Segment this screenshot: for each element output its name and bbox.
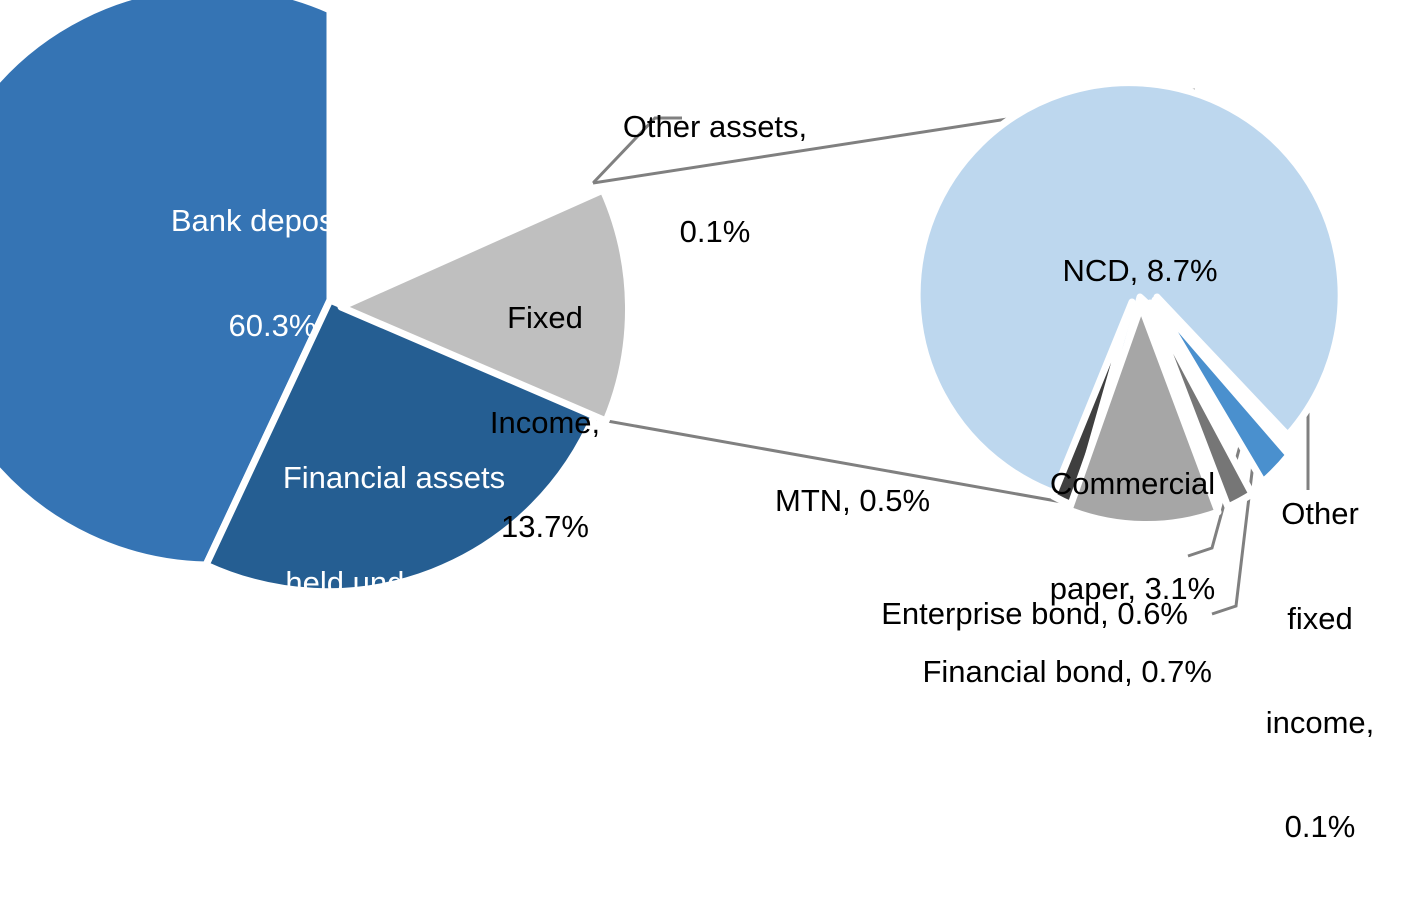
label-ncd-line1: NCD, 8.7% xyxy=(1040,254,1240,289)
label-repo: Financial assets held under repo agreeme… xyxy=(254,392,534,878)
label-other-fixed-income-line1: Other xyxy=(1258,497,1382,532)
label-bank-deposits: Bank deposits, 60.3% xyxy=(140,135,405,413)
label-repo-line4: 25.9% xyxy=(254,774,534,809)
label-bank-deposits-line2: 60.3% xyxy=(140,309,405,344)
label-other-fixed-income-line3: income, xyxy=(1258,706,1382,741)
label-ncd: NCD, 8.7% xyxy=(1040,185,1240,359)
label-repo-line1: Financial assets xyxy=(254,461,534,496)
label-mtn-line1: MTN, 0.5% xyxy=(775,484,965,519)
label-other-assets-line1: Other assets, xyxy=(600,110,830,145)
label-other-assets: Other assets, 0.1% xyxy=(600,41,830,319)
label-financial-bond: Financial bond, 0.7% xyxy=(888,586,1212,760)
label-other-fixed-income-line2: fixed xyxy=(1258,602,1382,637)
label-other-fixed-income-line4: 0.1% xyxy=(1258,810,1382,845)
label-repo-line2: held under repo xyxy=(254,566,534,601)
label-bank-deposits-line1: Bank deposits, xyxy=(140,204,405,239)
pie-chart-figure: Bank deposits, 60.3% Fixed Income, 13.7%… xyxy=(0,0,1404,644)
label-commercial-paper-line1: Commercial xyxy=(1030,467,1235,502)
label-fixed-income-line1: Fixed xyxy=(475,301,615,336)
label-other-fixed-income: Other fixed income, 0.1% xyxy=(1258,428,1382,914)
label-financial-bond-line1: Financial bond, 0.7% xyxy=(888,655,1212,690)
label-other-assets-line2: 0.1% xyxy=(600,215,830,250)
label-repo-line3: agreements, xyxy=(254,670,534,705)
